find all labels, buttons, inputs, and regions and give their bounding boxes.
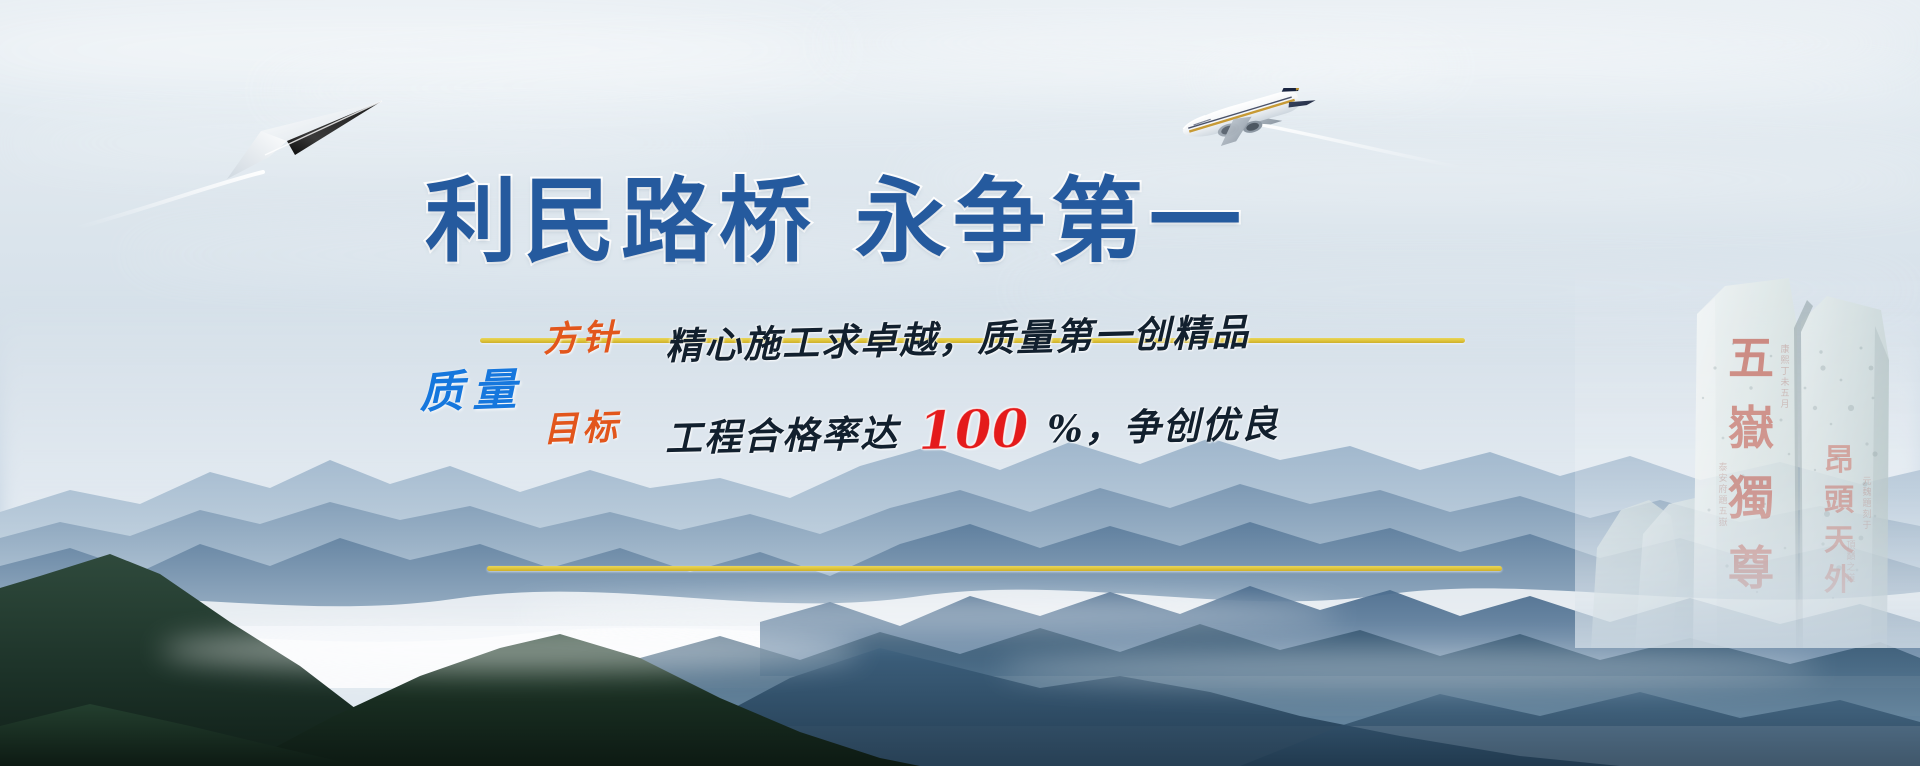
cloud-icon [160, 628, 860, 672]
airplane-icon [1172, 88, 1317, 150]
cloud-icon [1000, 648, 1820, 688]
divider-bottom [487, 566, 1502, 571]
cloud-icon [520, 596, 1340, 632]
hero-banner: 五 嶽 獨 尊 昂 頭 天 外 康熙丁 未五月 泰安府 題五嶽 元魏題 刻于 頂… [0, 0, 1920, 766]
label-policy: 方针 [542, 309, 622, 363]
quality-heading: 质量 [418, 353, 526, 421]
slogan-target-prefix: 工程合格率达 [665, 411, 900, 461]
slogan-target-suffix: %，争创优良 [1047, 401, 1280, 451]
label-target: 目标 [542, 399, 622, 453]
page-title: 利民路桥 永争第一 [425, 176, 1247, 268]
paper-plane-icon [225, 95, 385, 185]
stone-monument-icon: 五 嶽 獨 尊 昂 頭 天 外 康熙丁 未五月 泰安府 題五嶽 元魏題 刻于 頂… [1575, 248, 1920, 648]
slogan-target-percentage: 100 [913, 398, 1033, 463]
